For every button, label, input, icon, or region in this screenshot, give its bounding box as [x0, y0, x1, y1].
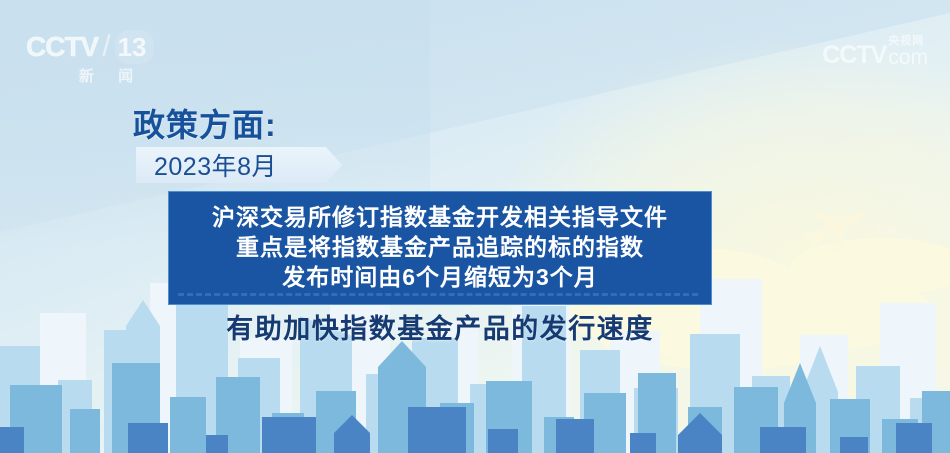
date-banner: 2023年8月 — [136, 147, 342, 183]
page-title: 政策方面: — [133, 100, 277, 146]
statement-line: 发布时间由6个月缩短为3个月 — [169, 262, 711, 292]
statement-line: 沪深交易所修订指数基金开发相关指导文件 — [169, 202, 711, 232]
date-label: 2023年8月 — [154, 147, 277, 183]
statement-line: 重点是将指数基金产品追踪的标的指数 — [169, 232, 711, 262]
conclusion-text: 有助加快指数基金产品的发行速度 — [168, 307, 712, 346]
statement-box: 沪深交易所修订指数基金开发相关指导文件 重点是将指数基金产品追踪的标的指数 发布… — [168, 191, 712, 305]
dashed-divider — [178, 293, 698, 296]
content-layer: 政策方面: 2023年8月 沪深交易所修订指数基金开发相关指导文件 重点是将指数… — [0, 0, 950, 453]
news-graphic-screen: CCTV / 13 新 闻 CCTV 央视网 com 政策方面: 2023年8月… — [0, 0, 950, 453]
